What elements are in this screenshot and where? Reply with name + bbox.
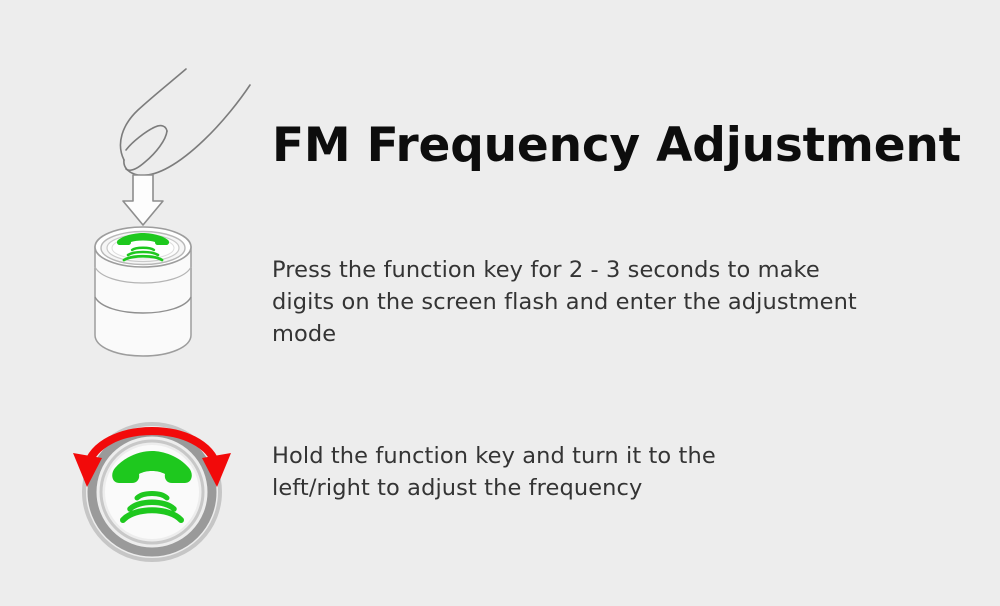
rotate-speaker-dial-illustration bbox=[55, 395, 255, 570]
fingertip-icon bbox=[120, 69, 250, 175]
step-1-description: Press the function key for 2 - 3 seconds… bbox=[272, 254, 872, 350]
step-2-description: Hold the function key and turn it to the… bbox=[272, 440, 802, 504]
cylindrical-speaker-icon bbox=[95, 227, 191, 356]
finger-press-speaker-illustration bbox=[60, 45, 270, 370]
instruction-card: FM Frequency Adjustment Press the functi… bbox=[0, 0, 1000, 606]
page-title: FM Frequency Adjustment bbox=[272, 122, 961, 169]
down-arrow-icon bbox=[123, 175, 163, 225]
